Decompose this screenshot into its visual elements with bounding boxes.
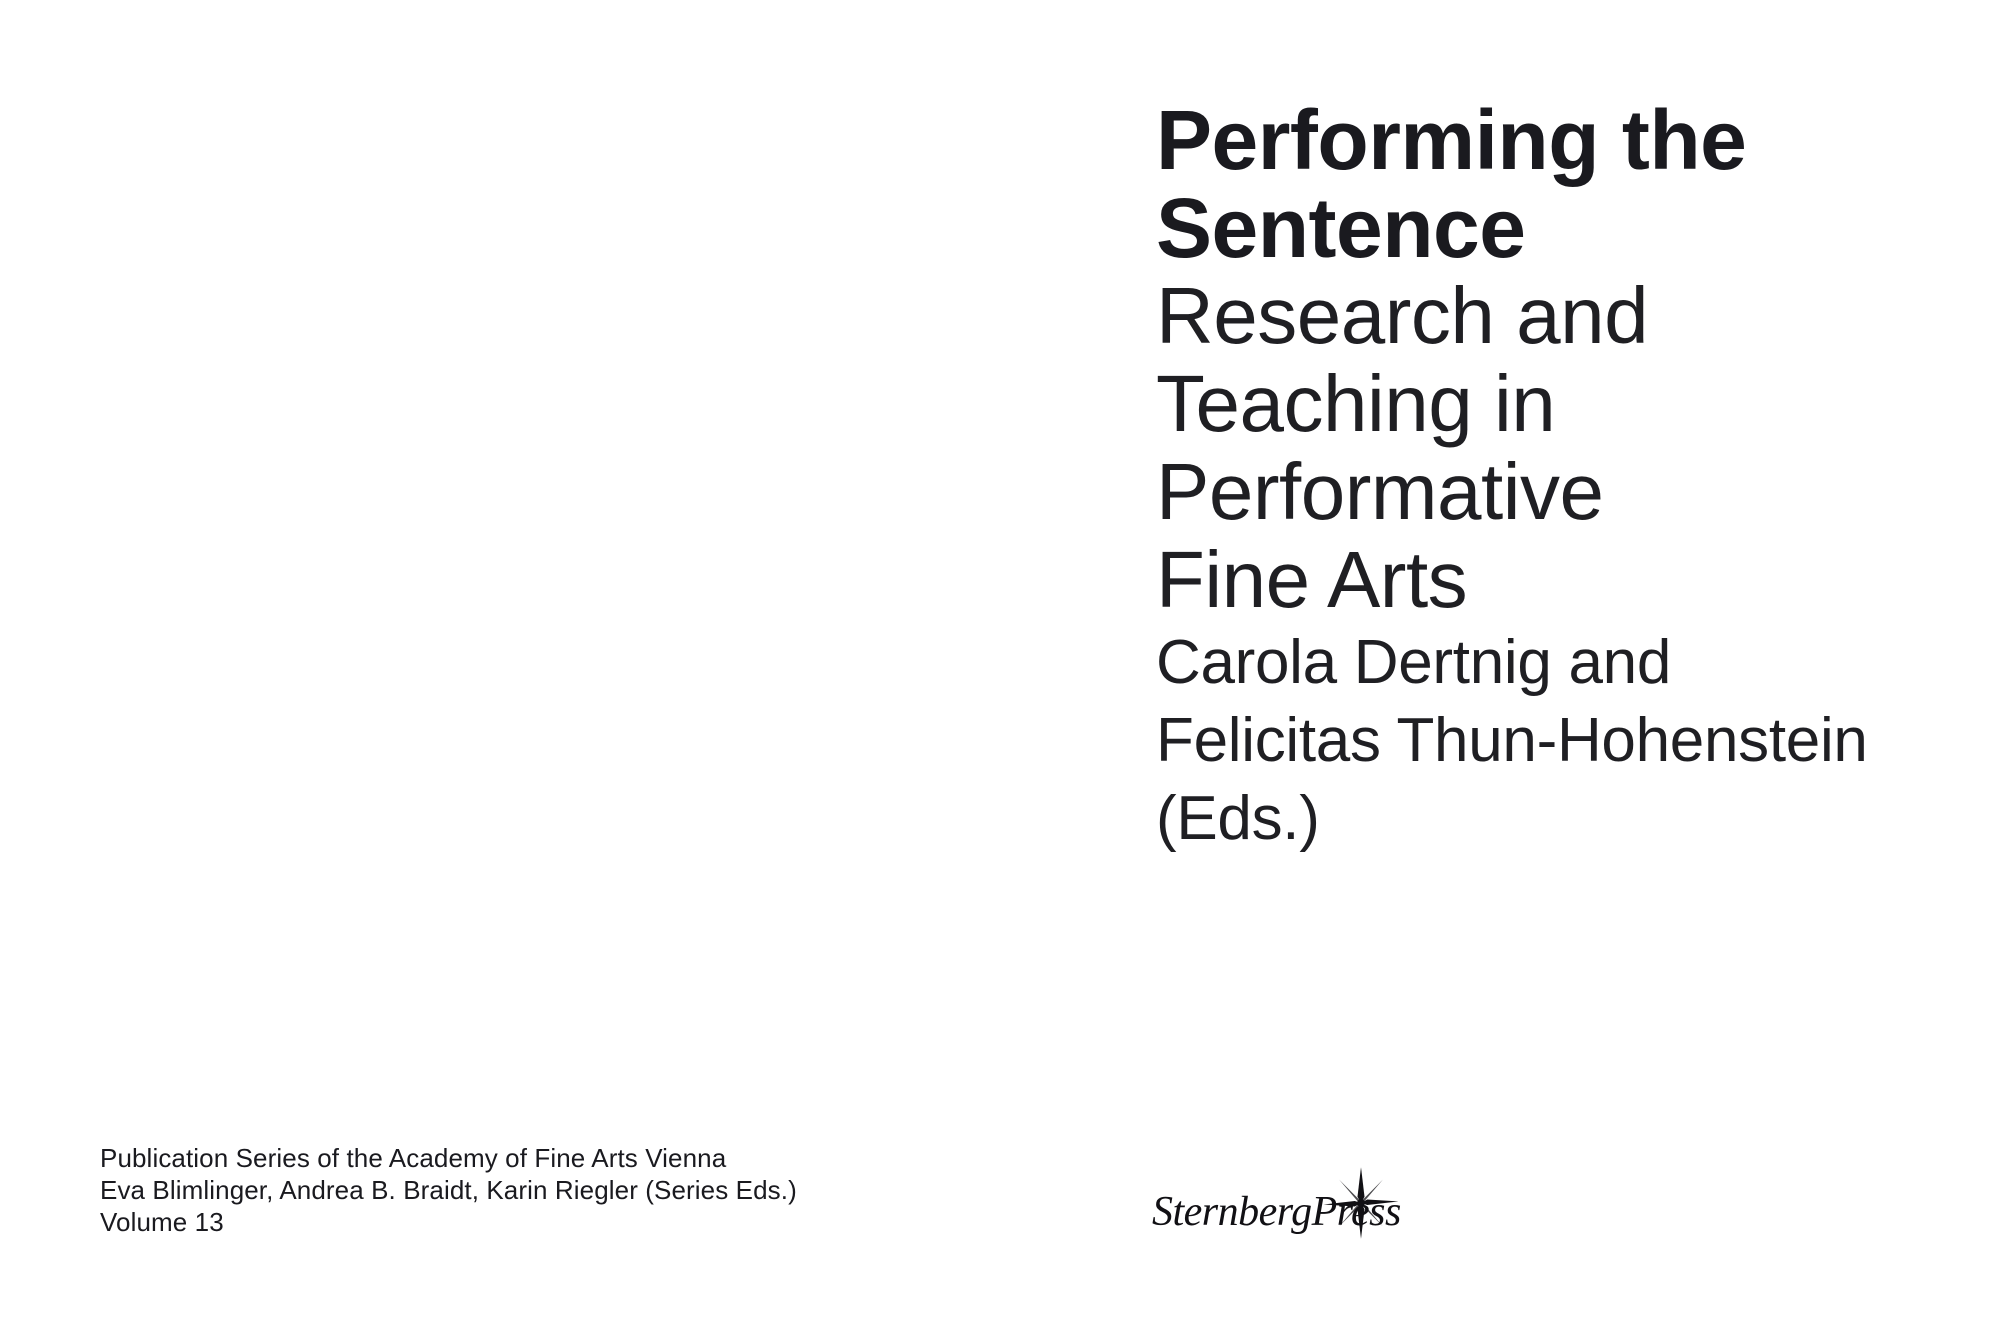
book-editors-line-3: (Eds.) [1156,780,1956,858]
publisher-wordmark: SternbergPress [1152,1188,1401,1236]
book-editors-line-2: Felicitas Thun-Hohenstein [1156,702,1956,780]
book-editors-line-1: Carola Dertnig and [1156,624,1956,702]
book-subtitle-line-3: Performative [1156,448,1956,536]
book-title-line-2: Sentence [1156,184,1956,272]
book-subtitle-line-1: Research and [1156,272,1956,360]
book-subtitle-line-4: Fine Arts [1156,536,1956,624]
book-title-line-1: Performing the [1156,96,1956,184]
series-editors: Eva Blimlinger, Andrea B. Braidt, Karin … [100,1174,920,1206]
series-volume: Volume 13 [100,1206,920,1238]
series-information-block: Publication Series of the Academy of Fin… [100,1142,920,1238]
book-title-page: Performing the Sentence Research and Tea… [0,0,2000,1333]
book-subtitle-line-2: Teaching in [1156,360,1956,448]
series-name: Publication Series of the Academy of Fin… [100,1142,920,1174]
publisher-logo: SternbergPress [1152,1172,1412,1252]
title-block: Performing the Sentence Research and Tea… [1156,96,1956,858]
